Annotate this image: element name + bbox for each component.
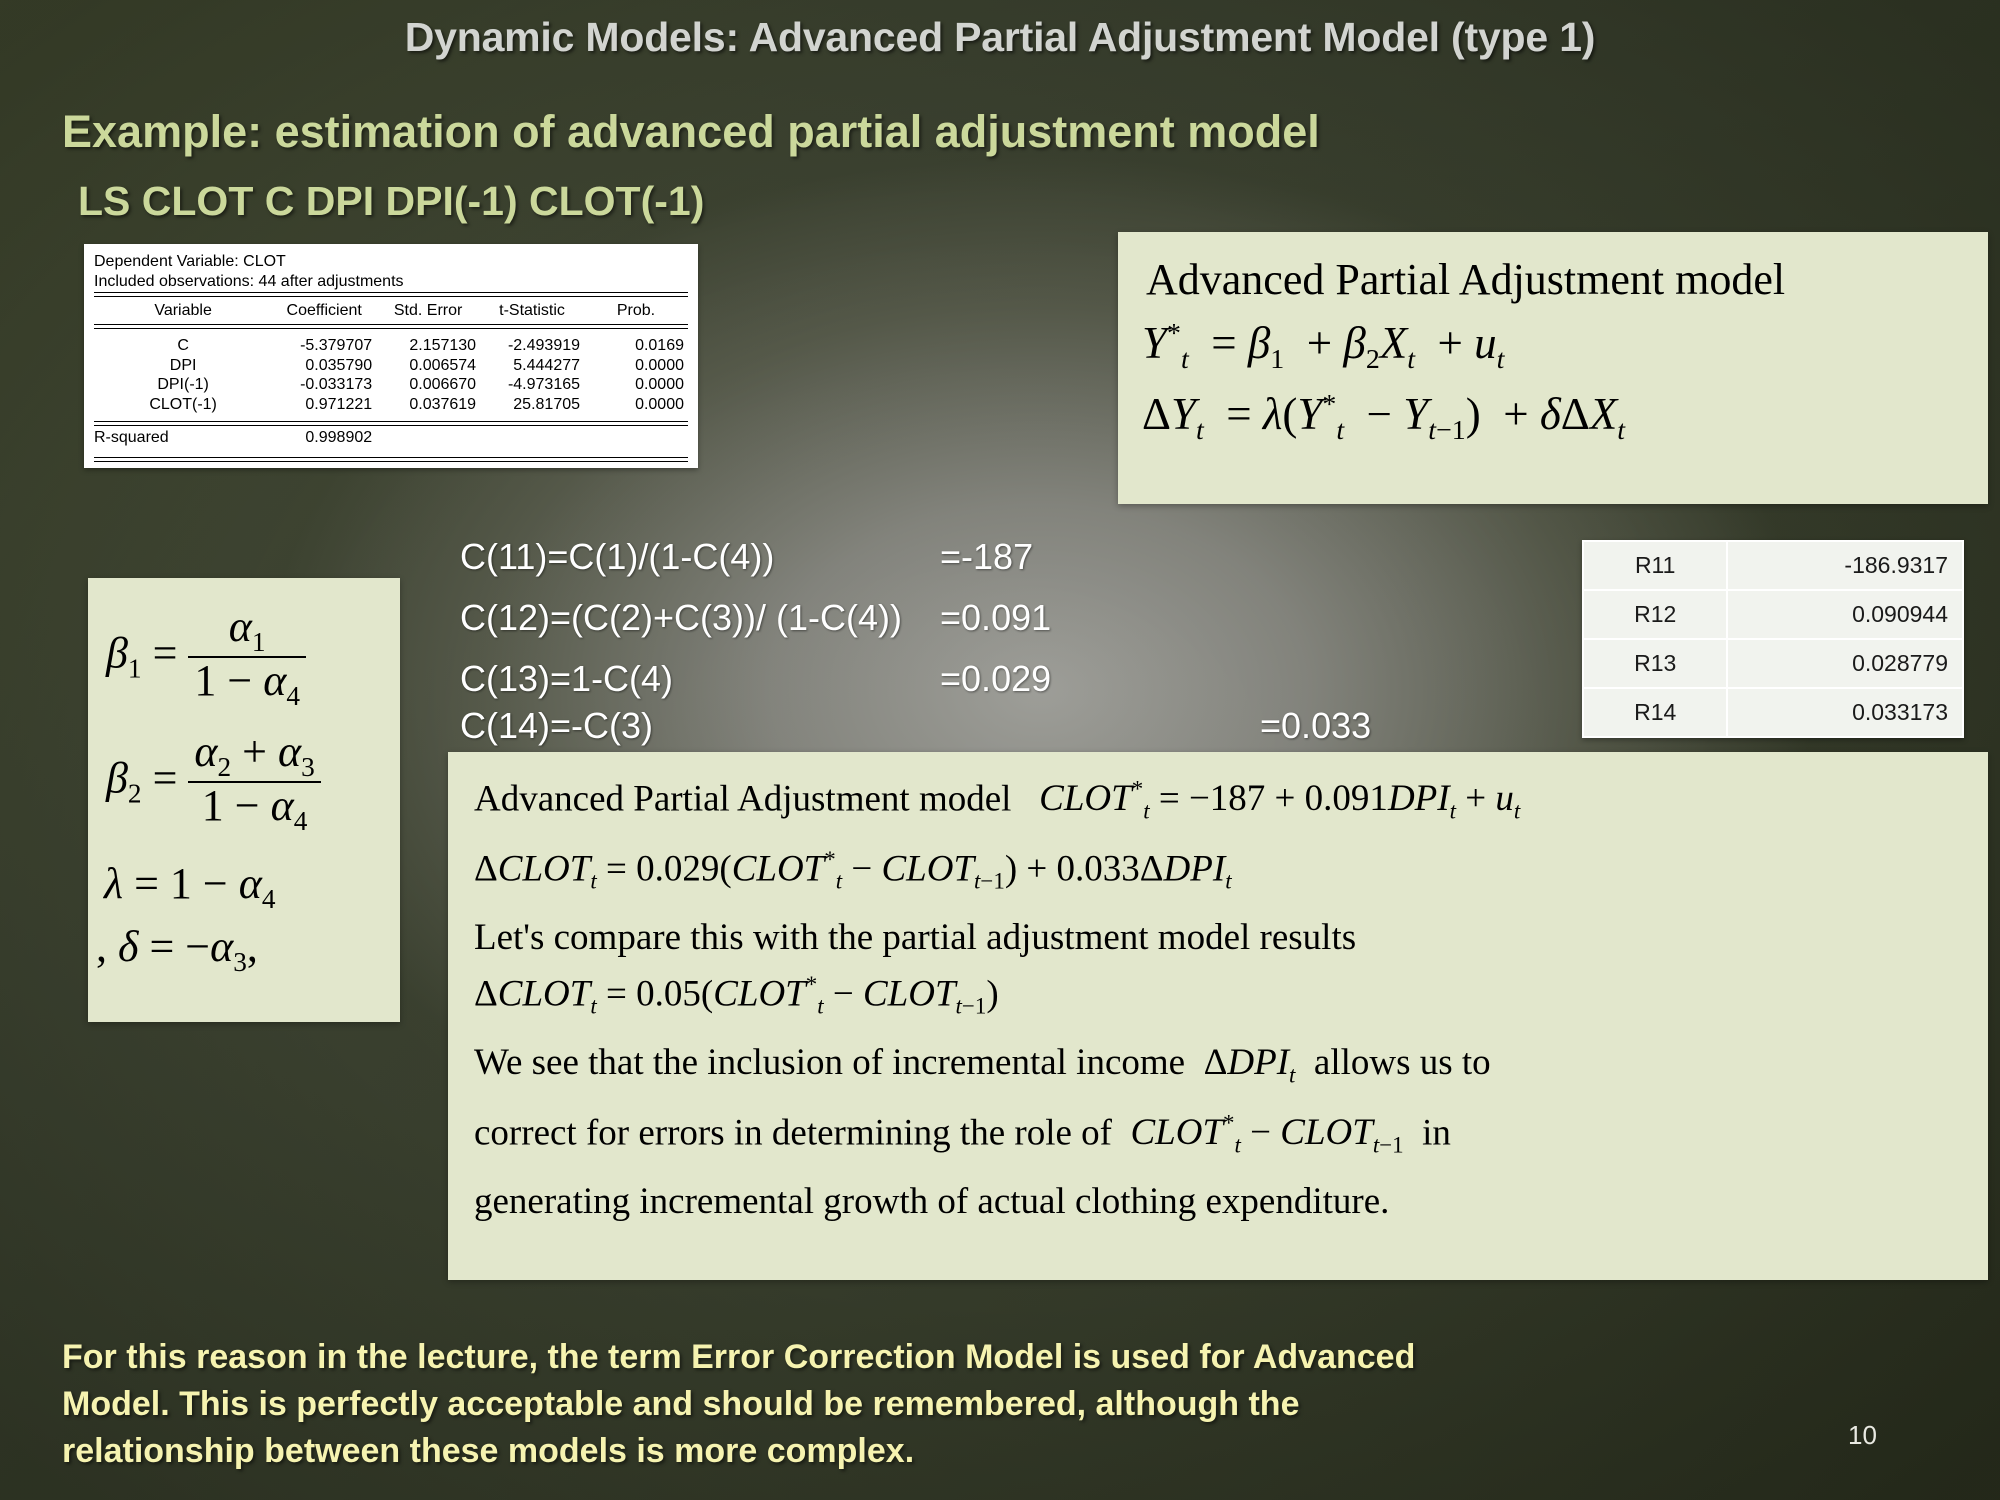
- cell-coefficient: 0.971221: [272, 395, 376, 415]
- main-line-2: ΔCLOTt = 0.029(CLOT*t − CLOTt−1) + 0.033…: [474, 848, 1964, 894]
- cell-std-error: 0.037619: [376, 395, 480, 415]
- rsquared-value: 0.998902: [272, 426, 376, 450]
- coef-result-c11: =-187: [940, 536, 1033, 578]
- coef-expression-c12: C(12)=(C(2)+C(3))/ (1-C(4)): [460, 597, 930, 639]
- advanced-partial-adjustment-model-panel: Advanced Partial Adjustment model Y*t = …: [1118, 232, 1988, 504]
- cell-coefficient: -5.379707: [272, 336, 376, 356]
- coef-equation-row-c14: C(14)=-C(3) =0.033: [460, 705, 1371, 747]
- main-line-6-math: CLOT*t − CLOTt−1: [1121, 1112, 1413, 1153]
- eviews-header-row: Variable Coefficient Std. Error t-Statis…: [94, 297, 688, 325]
- spacer-row: [94, 329, 688, 337]
- coef-result-c14: =0.033: [1260, 705, 1371, 747]
- rsquared-label: R-squared: [94, 426, 272, 450]
- apam-equation-2: ΔYt = λ(Y*t − Yt−1) + δΔXt: [1118, 376, 1988, 447]
- slide-subtitle-command: LS CLOT C DPI DPI(-1) CLOT(-1): [78, 178, 704, 225]
- coef-expression-c11: C(11)=C(1)/(1-C(4)): [460, 536, 930, 578]
- main-line-5: We see that the inclusion of incremental…: [474, 1043, 1964, 1088]
- coef-result-c13: =0.029: [940, 658, 1051, 700]
- rsquared-row: R-squared 0.998902: [94, 426, 688, 450]
- table-row: R12 0.090944: [1583, 590, 1963, 639]
- cell-variable: CLOT(-1): [94, 395, 272, 415]
- cell-prob: 0.0000: [584, 395, 688, 415]
- beta-formula-panel: β1 = α11 − α4 β2 = α2 + α31 − α4 λ = 1 −…: [88, 578, 400, 1022]
- cell-variable: DPI: [94, 356, 272, 376]
- bottom-note-line-2: Model. This is perfectly acceptable and …: [62, 1381, 1942, 1428]
- col-header-std-error: Std. Error: [376, 297, 480, 325]
- cell-std-error: 2.157130: [376, 336, 480, 356]
- page-number: 10: [1848, 1420, 1877, 1451]
- main-line-5-text-a: We see that the inclusion of incremental…: [474, 1042, 1185, 1083]
- rule-bottom: [94, 457, 688, 461]
- main-line-1-equation: CLOT*t = −187 + 0.091DPIt + ut: [1039, 778, 1520, 819]
- delta-formula: , δ = −α3,: [88, 915, 400, 978]
- slide-canvas: Dynamic Models: Advanced Partial Adjustm…: [0, 0, 2000, 1500]
- r-value: 0.028779: [1727, 639, 1963, 688]
- cell-t-statistic: 5.444277: [480, 356, 584, 376]
- cell-prob: 0.0169: [584, 336, 688, 356]
- dependent-variable-line: Dependent Variable: CLOT: [94, 252, 688, 272]
- slide-title: Dynamic Models: Advanced Partial Adjustm…: [0, 14, 2000, 61]
- cell-t-statistic: -4.973165: [480, 375, 584, 395]
- main-discussion-panel: Advanced Partial Adjustment model CLOT*t…: [448, 752, 1988, 1280]
- lambda-formula: λ = 1 − α4: [88, 836, 400, 915]
- bottom-note-line-3: relationship between these models is mor…: [62, 1428, 1942, 1475]
- col-header-variable: Variable: [94, 297, 272, 325]
- r-key: R12: [1583, 590, 1727, 639]
- cell-std-error: 0.006574: [376, 356, 480, 376]
- apam-equation-1: Y*t = β1 + β2Xt + ut: [1118, 305, 1988, 376]
- table-row: C -5.379707 2.157130 -2.493919 0.0169: [94, 336, 688, 356]
- coef-equation-row-c13: C(13)=1-C(4) =0.029: [460, 658, 1051, 700]
- r-value: -186.9317: [1727, 541, 1963, 590]
- eviews-table: Variable Coefficient Std. Error t-Statis…: [94, 292, 688, 461]
- r-key: R13: [1583, 639, 1727, 688]
- cell-prob: 0.0000: [584, 356, 688, 376]
- table-row: DPI(-1) -0.033173 0.006670 -4.973165 0.0…: [94, 375, 688, 395]
- coef-result-c12: =0.091: [940, 597, 1051, 639]
- r-results-table: R11 -186.9317 R12 0.090944 R13 0.028779 …: [1582, 540, 1964, 738]
- table-row: DPI 0.035790 0.006574 5.444277 0.0000: [94, 356, 688, 376]
- main-line-1: Advanced Partial Adjustment model CLOT*t…: [474, 778, 1964, 824]
- cell-coefficient: -0.033173: [272, 375, 376, 395]
- col-header-coefficient: Coefficient: [272, 297, 376, 325]
- main-line-5-math: ΔDPIt: [1194, 1042, 1304, 1083]
- main-line-6: correct for errors in determining the ro…: [474, 1112, 1964, 1158]
- observations-line: Included observations: 44 after adjustme…: [94, 272, 688, 292]
- main-line-6-text-b: in: [1422, 1112, 1451, 1153]
- coef-equation-row-c12: C(12)=(C(2)+C(3))/ (1-C(4)) =0.091: [460, 597, 1051, 639]
- main-line-5-text-b: allows us to: [1314, 1042, 1491, 1083]
- bottom-note-line-1: For this reason in the lecture, the term…: [62, 1334, 1942, 1381]
- beta2-formula: β2 = α2 + α31 − α4: [88, 711, 400, 836]
- cell-prob: 0.0000: [584, 375, 688, 395]
- col-header-prob: Prob.: [584, 297, 688, 325]
- slide-subtitle-example: Example: estimation of advanced partial …: [62, 106, 1320, 158]
- spacer-row: [94, 450, 688, 458]
- r-value: 0.090944: [1727, 590, 1963, 639]
- main-line-6-text-a: correct for errors in determining the ro…: [474, 1112, 1112, 1153]
- cell-std-error: 0.006670: [376, 375, 480, 395]
- main-line-3: Let's compare this with the partial adju…: [474, 918, 1964, 957]
- apam-heading: Advanced Partial Adjustment model: [1118, 232, 1988, 305]
- r-key: R14: [1583, 688, 1727, 737]
- main-line-1-prefix: Advanced Partial Adjustment model: [474, 778, 1011, 819]
- eviews-output-panel: Dependent Variable: CLOT Included observ…: [84, 244, 698, 468]
- table-row: R11 -186.9317: [1583, 541, 1963, 590]
- coef-expression-c14: C(14)=-C(3): [460, 705, 1250, 747]
- spacer-row: [94, 414, 688, 422]
- table-row: R13 0.028779: [1583, 639, 1963, 688]
- r-key: R11: [1583, 541, 1727, 590]
- coef-equation-row-c11: C(11)=C(1)/(1-C(4)) =-187: [460, 536, 1033, 578]
- cell-t-statistic: 25.81705: [480, 395, 584, 415]
- main-line-7: generating incremental growth of actual …: [474, 1182, 1964, 1221]
- main-line-4: ΔCLOTt = 0.05(CLOT*t − CLOTt−1): [474, 973, 1964, 1019]
- col-header-t-statistic: t-Statistic: [480, 297, 584, 325]
- coef-expression-c13: C(13)=1-C(4): [460, 658, 930, 700]
- beta1-formula: β1 = α11 − α4: [88, 578, 400, 711]
- r-value: 0.033173: [1727, 688, 1963, 737]
- cell-t-statistic: -2.493919: [480, 336, 584, 356]
- bottom-note: For this reason in the lecture, the term…: [62, 1334, 1942, 1475]
- table-row: R14 0.033173: [1583, 688, 1963, 737]
- cell-variable: C: [94, 336, 272, 356]
- cell-variable: DPI(-1): [94, 375, 272, 395]
- table-row: CLOT(-1) 0.971221 0.037619 25.81705 0.00…: [94, 395, 688, 415]
- cell-coefficient: 0.035790: [272, 356, 376, 376]
